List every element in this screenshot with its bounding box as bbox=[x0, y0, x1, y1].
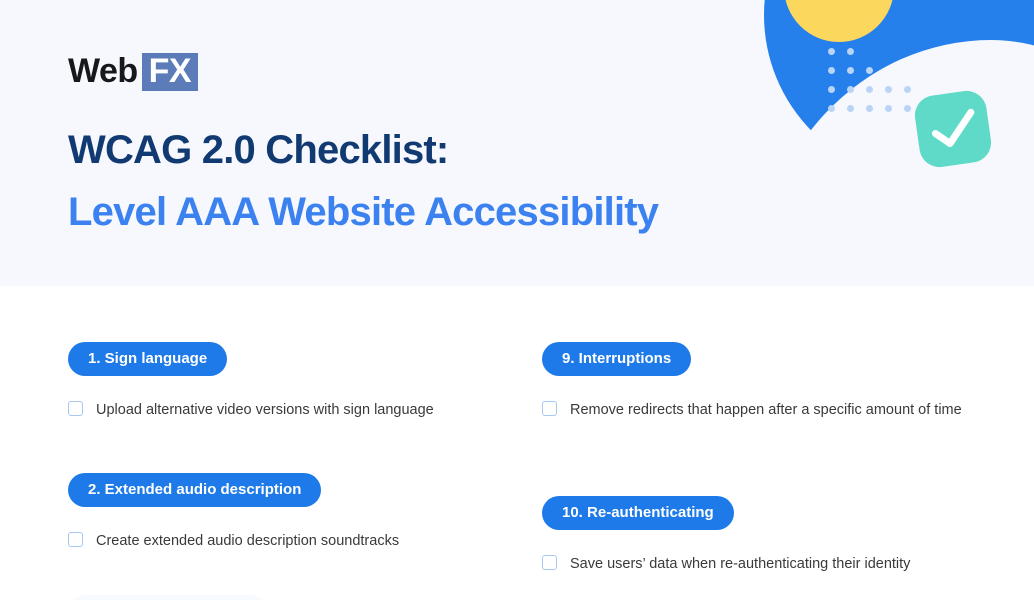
dot-grid-row bbox=[828, 67, 923, 86]
checklist-body: 1. Sign language Upload alternative vide… bbox=[0, 286, 1034, 600]
checklist-item-2-task[interactable]: Create extended audio description soundt… bbox=[68, 530, 528, 552]
checklist-item-1-pill[interactable]: 1. Sign language bbox=[68, 342, 227, 376]
checklist-item-2-task-text: Create extended audio description soundt… bbox=[96, 530, 399, 552]
grid-dot bbox=[866, 105, 873, 112]
grid-dot bbox=[885, 105, 892, 112]
grid-dot bbox=[866, 86, 873, 93]
page-title-line-2: Level AAA Website Accessibility bbox=[68, 190, 658, 235]
grid-dot bbox=[885, 48, 892, 55]
checklist-item-10: 10. Re-authenticating Save users’ data w… bbox=[542, 496, 1002, 575]
grid-dot bbox=[847, 48, 854, 55]
grid-dot bbox=[904, 67, 911, 74]
checklist-item-2-pill[interactable]: 2. Extended audio description bbox=[68, 473, 321, 507]
checklist-item-10-task-text: Save users’ data when re-authenticating … bbox=[570, 553, 910, 575]
checklist-item-9-pill[interactable]: 9. Interruptions bbox=[542, 342, 691, 376]
dot-grid-row bbox=[828, 105, 923, 124]
checkbox-icon[interactable] bbox=[68, 401, 83, 416]
grid-dot bbox=[828, 67, 835, 74]
page-title-line-1: WCAG 2.0 Checklist: bbox=[68, 128, 448, 173]
checkbox-icon[interactable] bbox=[68, 532, 83, 547]
checklist-item-1-task-text: Upload alternative video versions with s… bbox=[96, 399, 434, 421]
grid-dot bbox=[904, 105, 911, 112]
grid-dot bbox=[885, 67, 892, 74]
grid-dot bbox=[828, 48, 835, 55]
webfx-logo: Web FX bbox=[68, 52, 198, 91]
grid-dot bbox=[885, 86, 892, 93]
dot-grid-row bbox=[828, 86, 923, 105]
grid-dot bbox=[847, 86, 854, 93]
page-header: Web FX WCAG 2.0 Checklist: Level AAA Web… bbox=[0, 0, 1034, 286]
checklist-item-9: 9. Interruptions Remove redirects that h… bbox=[542, 342, 1002, 421]
logo-badge-fx: FX bbox=[142, 53, 198, 91]
next-checklist-item-partial[interactable] bbox=[68, 595, 268, 600]
checklist-item-10-task[interactable]: Save users’ data when re-authenticating … bbox=[542, 553, 1002, 575]
checkmark-icon bbox=[929, 107, 980, 153]
checklist-item-1: 1. Sign language Upload alternative vide… bbox=[68, 342, 528, 421]
dot-grid-row bbox=[828, 48, 923, 67]
dot-grid-icon bbox=[828, 48, 923, 124]
logo-text-web: Web bbox=[68, 52, 138, 91]
grid-dot bbox=[866, 48, 873, 55]
grid-dot bbox=[847, 105, 854, 112]
grid-dot bbox=[904, 86, 911, 93]
grid-dot bbox=[904, 48, 911, 55]
checklist-item-1-task[interactable]: Upload alternative video versions with s… bbox=[68, 399, 528, 421]
checkmark-badge-icon bbox=[912, 88, 993, 169]
grid-dot bbox=[828, 105, 835, 112]
grid-dot bbox=[866, 67, 873, 74]
checklist-item-10-pill[interactable]: 10. Re-authenticating bbox=[542, 496, 734, 530]
checklist-item-2: 2. Extended audio description Create ext… bbox=[68, 473, 528, 552]
checklist-item-9-task[interactable]: Remove redirects that happen after a spe… bbox=[542, 399, 1002, 421]
grid-dot bbox=[828, 86, 835, 93]
checkbox-icon[interactable] bbox=[542, 555, 557, 570]
checkbox-icon[interactable] bbox=[542, 401, 557, 416]
grid-dot bbox=[847, 67, 854, 74]
checklist-item-9-task-text: Remove redirects that happen after a spe… bbox=[570, 399, 962, 421]
